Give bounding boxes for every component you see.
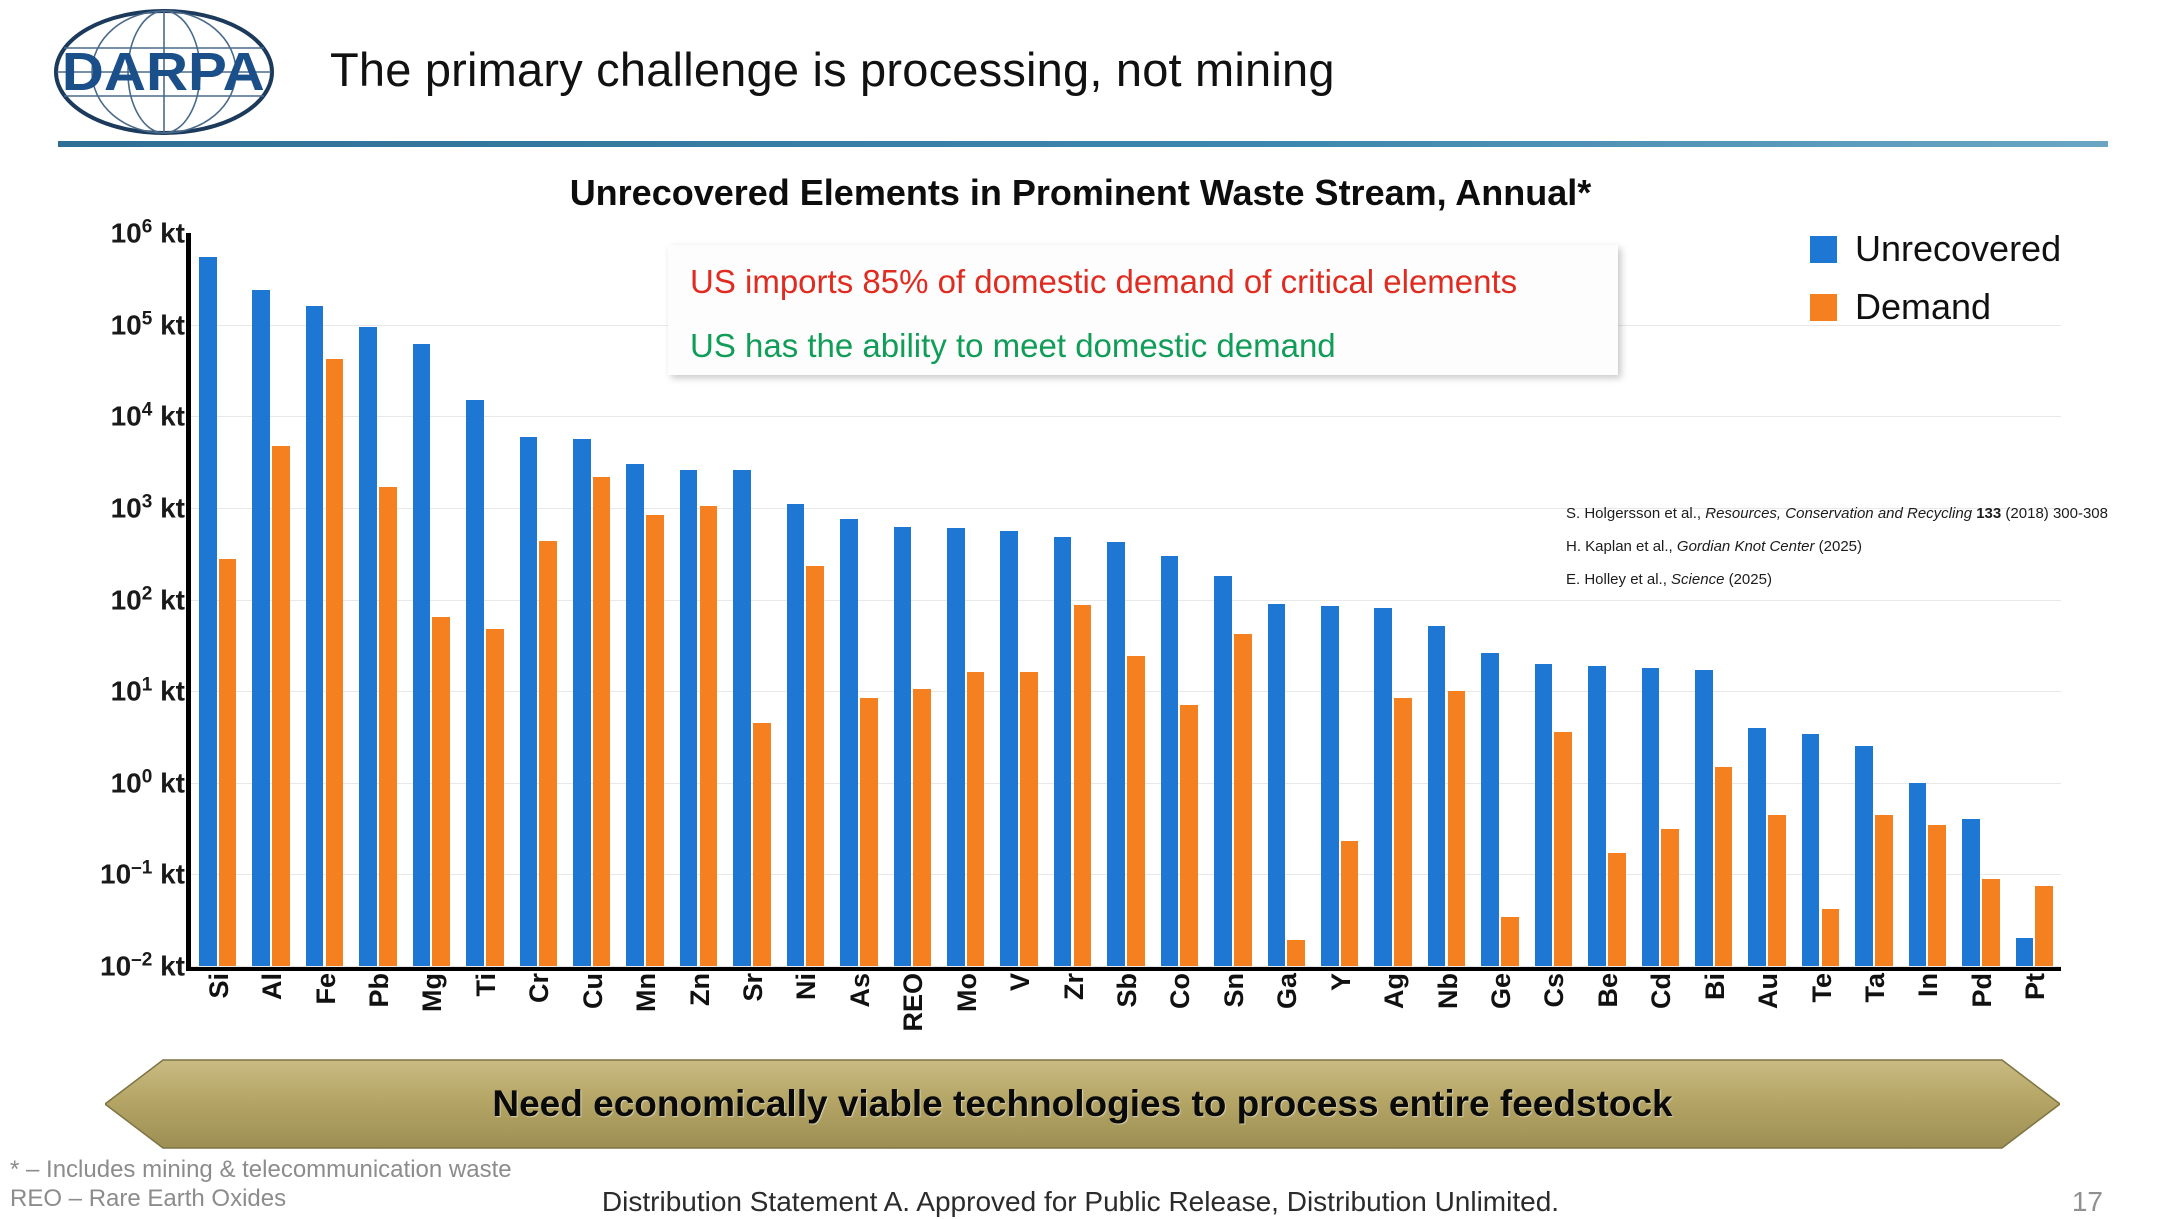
bar-demand[interactable] xyxy=(2035,886,2053,966)
bar-unrecovered[interactable] xyxy=(413,344,431,966)
bar-unrecovered[interactable] xyxy=(252,290,270,966)
chart-title: Unrecovered Elements in Prominent Waste … xyxy=(0,172,2161,214)
bar-group xyxy=(191,233,244,966)
bar-demand[interactable] xyxy=(1501,917,1519,966)
x-tick-mg: Mg xyxy=(417,973,448,1012)
x-tick-pb: Pb xyxy=(364,973,395,1008)
legend-item-demand[interactable]: Demand xyxy=(1810,286,2140,328)
bar-demand[interactable] xyxy=(860,698,878,966)
bar-demand[interactable] xyxy=(1822,909,1840,966)
x-tick-fe: Fe xyxy=(311,973,342,1005)
bar-demand[interactable] xyxy=(913,689,931,966)
bar-unrecovered[interactable] xyxy=(466,400,484,966)
bar-unrecovered[interactable] xyxy=(947,528,965,966)
bar-unrecovered[interactable] xyxy=(1481,653,1499,966)
bar-unrecovered[interactable] xyxy=(1588,666,1606,966)
bar-unrecovered[interactable] xyxy=(1695,670,1713,966)
citation-3: E. Holley et al., Science (2025) xyxy=(1566,571,2086,588)
bar-unrecovered[interactable] xyxy=(1107,542,1125,966)
x-tick-mn: Mn xyxy=(631,973,662,1012)
bar-unrecovered[interactable] xyxy=(1748,728,1766,966)
legend-label: Demand xyxy=(1855,286,1991,328)
bar-group xyxy=(244,233,297,966)
bar-unrecovered[interactable] xyxy=(1214,576,1232,966)
bar-unrecovered[interactable] xyxy=(787,504,805,966)
bar-group xyxy=(512,233,565,966)
y-axis-tick-3: 103 kt xyxy=(111,491,185,524)
bar-unrecovered[interactable] xyxy=(894,527,912,966)
slide-header: DARPA The primary challenge is processin… xyxy=(0,0,2161,150)
x-tick-be: Be xyxy=(1593,973,1624,1008)
bar-demand[interactable] xyxy=(486,629,504,966)
bar-unrecovered[interactable] xyxy=(1962,819,1980,966)
legend-swatch-icon xyxy=(1810,236,1837,263)
x-tick-si: Si xyxy=(204,973,235,999)
bar-unrecovered[interactable] xyxy=(1909,783,1927,966)
bar-unrecovered[interactable] xyxy=(733,470,751,966)
bar-unrecovered[interactable] xyxy=(1428,626,1446,966)
y-axis-tick-5: 105 kt xyxy=(111,308,185,341)
y-axis-tick--2: 10–2 kt xyxy=(100,949,185,982)
legend-label: Unrecovered xyxy=(1855,228,2061,270)
bar-unrecovered[interactable] xyxy=(1642,668,1660,966)
bar-group xyxy=(618,233,671,966)
bar-group xyxy=(405,233,458,966)
bar-demand[interactable] xyxy=(1020,672,1038,966)
bar-demand[interactable] xyxy=(806,566,824,966)
bar-unrecovered[interactable] xyxy=(1161,556,1179,966)
x-tick-sn: Sn xyxy=(1219,973,1250,1008)
bar-unrecovered[interactable] xyxy=(199,257,217,966)
bar-demand[interactable] xyxy=(1715,767,1733,966)
bar-demand[interactable] xyxy=(1180,705,1198,966)
citation-list: S. Holgersson et al., Resources, Conserv… xyxy=(1566,505,2086,604)
bar-unrecovered[interactable] xyxy=(1268,604,1286,966)
bar-unrecovered[interactable] xyxy=(680,470,698,966)
x-tick-reo: REO xyxy=(898,973,929,1032)
y-axis-tick-0: 100 kt xyxy=(111,766,185,799)
bar-demand[interactable] xyxy=(379,487,397,966)
bar-unrecovered[interactable] xyxy=(1054,537,1072,966)
bar-unrecovered[interactable] xyxy=(306,306,324,966)
darpa-logo: DARPA xyxy=(52,8,277,136)
bar-demand[interactable] xyxy=(219,559,237,966)
svg-text:DARPA: DARPA xyxy=(62,41,265,102)
bar-group xyxy=(351,233,404,966)
x-tick-ag: Ag xyxy=(1379,973,1410,1009)
bar-demand[interactable] xyxy=(1127,656,1145,966)
distribution-statement: Distribution Statement A. Approved for P… xyxy=(0,1186,2161,1218)
legend-item-unrecovered[interactable]: Unrecovered xyxy=(1810,228,2140,270)
bar-demand[interactable] xyxy=(1394,698,1412,966)
bar-demand[interactable] xyxy=(1287,940,1305,966)
x-tick-ni: Ni xyxy=(791,973,822,1000)
legend-swatch-icon xyxy=(1810,294,1837,321)
x-tick-au: Au xyxy=(1753,973,1784,1009)
x-tick-ge: Ge xyxy=(1486,973,1517,1009)
bar-demand[interactable] xyxy=(1982,879,2000,966)
banner-text: Need economically viable technologies to… xyxy=(105,1058,2060,1150)
x-tick-zr: Zr xyxy=(1059,973,1090,1000)
bar-demand[interactable] xyxy=(432,617,450,966)
x-tick-ga: Ga xyxy=(1272,973,1303,1009)
x-tick-co: Co xyxy=(1165,973,1196,1009)
y-axis-tick-2: 102 kt xyxy=(111,583,185,616)
footnote-asterisk: * – Includes mining & telecommunication … xyxy=(10,1155,512,1184)
bar-unrecovered[interactable] xyxy=(1000,531,1018,966)
bar-demand[interactable] xyxy=(700,506,718,966)
x-tick-v: V xyxy=(1005,973,1036,991)
y-axis-tick-4: 104 kt xyxy=(111,400,185,433)
citation-1: S. Holgersson et al., Resources, Conserv… xyxy=(1566,505,2086,522)
bar-demand[interactable] xyxy=(1448,691,1466,966)
callout-box: US imports 85% of domestic demand of cri… xyxy=(668,245,1618,375)
bar-demand[interactable] xyxy=(1928,825,1946,966)
x-tick-as: As xyxy=(845,973,876,1008)
y-axis-tick-6: 106 kt xyxy=(111,216,185,249)
chart-legend: UnrecoveredDemand xyxy=(1810,228,2140,344)
x-tick-zn: Zn xyxy=(685,973,716,1006)
bar-demand[interactable] xyxy=(1875,815,1893,966)
bar-unrecovered[interactable] xyxy=(520,437,538,966)
bar-demand[interactable] xyxy=(1074,605,1092,966)
x-tick-pd: Pd xyxy=(1967,973,1998,1008)
page-title: The primary challenge is processing, not… xyxy=(330,42,1335,97)
bar-unrecovered[interactable] xyxy=(840,519,858,966)
x-tick-cs: Cs xyxy=(1539,973,1570,1008)
x-tick-cu: Cu xyxy=(578,973,609,1009)
bar-unrecovered[interactable] xyxy=(1855,746,1873,966)
callout-banner: Need economically viable technologies to… xyxy=(105,1058,2060,1150)
bar-demand[interactable] xyxy=(539,541,557,966)
x-tick-te: Te xyxy=(1807,973,1838,1003)
bar-demand[interactable] xyxy=(1768,815,1786,966)
x-tick-ti: Ti xyxy=(471,973,502,997)
bar-unrecovered[interactable] xyxy=(1802,734,1820,966)
x-tick-mo: Mo xyxy=(952,973,983,1012)
bar-unrecovered[interactable] xyxy=(2016,938,2034,966)
bar-unrecovered[interactable] xyxy=(1535,664,1553,966)
bar-unrecovered[interactable] xyxy=(626,464,644,966)
header-divider xyxy=(58,141,2108,147)
x-tick-nb: Nb xyxy=(1433,973,1464,1009)
bar-demand[interactable] xyxy=(593,477,611,966)
callout-line-imports: US imports 85% of domestic demand of cri… xyxy=(690,263,1517,301)
bar-demand[interactable] xyxy=(1341,841,1359,966)
citation-2: H. Kaplan et al., Gordian Knot Center (2… xyxy=(1566,538,2086,555)
bar-unrecovered[interactable] xyxy=(573,439,591,966)
x-tick-cr: Cr xyxy=(524,973,555,1003)
bar-group xyxy=(298,233,351,966)
bar-demand[interactable] xyxy=(326,359,344,966)
x-tick-pt: Pt xyxy=(2020,973,2051,1000)
bar-demand[interactable] xyxy=(967,672,985,966)
x-tick-cd: Cd xyxy=(1646,973,1677,1009)
x-tick-sr: Sr xyxy=(738,973,769,1002)
x-tick-al: Al xyxy=(257,973,288,1000)
x-tick-in: In xyxy=(1913,973,1944,997)
y-axis-tick--1: 10–1 kt xyxy=(100,858,185,891)
bar-demand[interactable] xyxy=(646,515,664,966)
callout-line-ability: US has the ability to meet domestic dema… xyxy=(690,327,1336,365)
bar-group xyxy=(565,233,618,966)
bar-demand[interactable] xyxy=(753,723,771,966)
bar-unrecovered[interactable] xyxy=(1374,608,1392,966)
x-tick-sb: Sb xyxy=(1112,973,1143,1008)
x-tick-bi: Bi xyxy=(1700,973,1731,1000)
y-axis-labels: 106 kt105 kt104 kt103 kt102 kt101 kt100 … xyxy=(55,225,185,966)
bar-unrecovered[interactable] xyxy=(1321,606,1339,966)
bar-group xyxy=(458,233,511,966)
x-tick-ta: Ta xyxy=(1860,973,1891,1003)
y-axis-tick-1: 101 kt xyxy=(111,674,185,707)
bar-demand[interactable] xyxy=(272,446,290,966)
x-tick-y: Y xyxy=(1326,973,1357,991)
page-number: 17 xyxy=(2072,1186,2103,1218)
bar-unrecovered[interactable] xyxy=(359,327,377,966)
bar-demand[interactable] xyxy=(1608,853,1626,966)
bar-demand[interactable] xyxy=(1554,732,1572,966)
bar-demand[interactable] xyxy=(1661,829,1679,966)
bar-demand[interactable] xyxy=(1234,634,1252,966)
gridline xyxy=(191,966,2061,967)
